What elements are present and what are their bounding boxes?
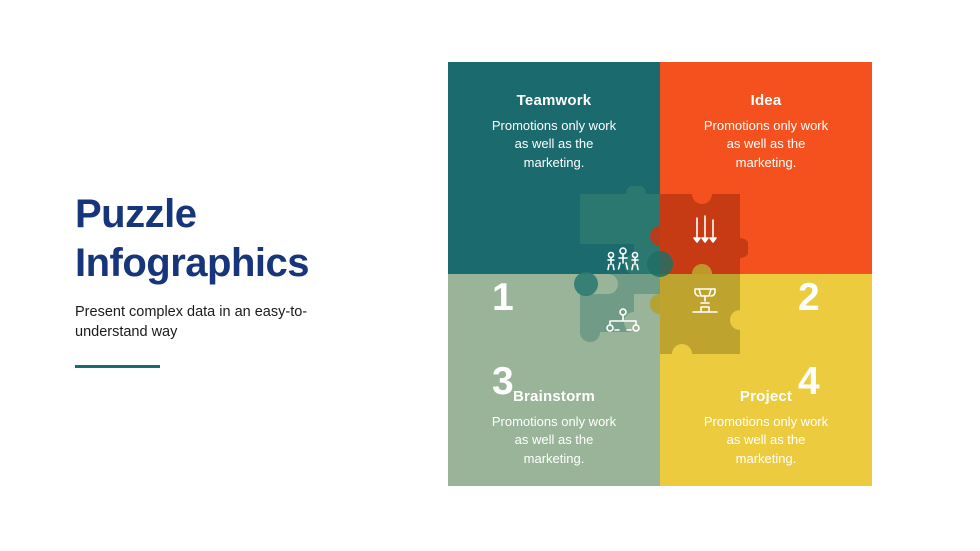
quadrant-description: Promotions only work as well as the mark… [484,413,624,468]
page-title: Puzzle Infographics [75,190,405,288]
left-text-block: Puzzle Infographics Present complex data… [75,190,405,368]
slide-canvas: Puzzle Infographics Present complex data… [0,0,980,551]
quadrant-title: Project [740,388,792,405]
quadrant-description: Promotions only work as well as the mark… [696,413,836,468]
page-subtitle: Present complex data in an easy-to-under… [75,302,325,343]
quadrant-number-4: 4 [798,362,820,401]
puzzle-piece-4[interactable] [650,264,740,354]
puzzle-center-graphic [572,186,748,362]
page-title-line-1: Puzzle [75,192,196,236]
quadrant-title: Idea [751,92,782,109]
quadrant-title: Brainstorm [513,388,595,405]
puzzle-pieces-svg [572,186,748,362]
page-title-line-2: Infographics [75,241,309,285]
quadrant-number-2: 2 [798,278,820,317]
accent-rule [75,365,160,368]
quadrant-description: Promotions only work as well as the mark… [696,117,836,172]
puzzle-knob-left [574,272,598,296]
quadrant-number-1: 1 [492,278,514,317]
puzzle-knob-center [647,251,673,277]
puzzle-grid: Teamwork Promotions only work as well as… [448,62,872,486]
quadrant-title: Teamwork [517,92,592,109]
quadrant-number-3: 3 [492,362,514,401]
quadrant-description: Promotions only work as well as the mark… [484,117,624,172]
